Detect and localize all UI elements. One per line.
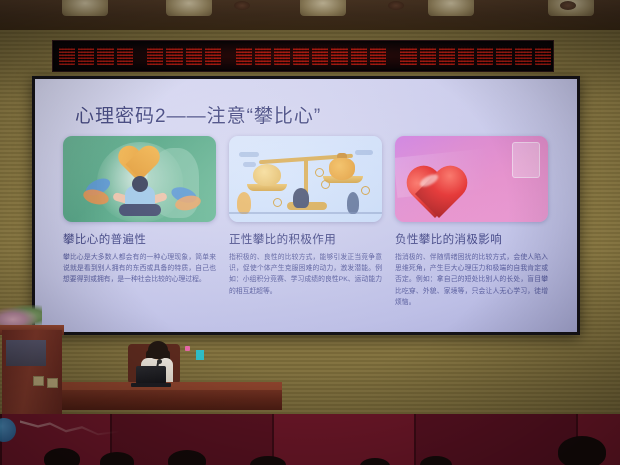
brain-icon <box>253 164 281 186</box>
desk-edge <box>62 382 282 390</box>
desk-item-pink <box>185 346 190 351</box>
column-body: 指消极的、伴随情绪困扰的比较方式，会使人陷入思维死角，产生巨大心理压力和极端的自… <box>395 252 548 308</box>
meditation-heart-illustration <box>63 136 216 222</box>
money-bag-icon <box>329 158 355 180</box>
column-body: 指积极的、良性的比较方式，能够引发正当竞争意识，促使个体产生克服困难的动力，激发… <box>229 252 382 297</box>
audience-head <box>558 436 606 465</box>
slide-title: 心理密码2——注意“攀比心” <box>75 101 321 128</box>
microphone-icon <box>157 359 162 364</box>
lecture-hall-photo: 心理密码2——注意“攀比心” 攀比心的普遍性 攀比心是大多数人都会有的一种心理现… <box>0 0 620 465</box>
audience-head <box>100 452 134 465</box>
led-banner-text <box>59 46 551 66</box>
slide-column: 攀比心的普遍性 攀比心是大多数人都会有的一种心理现象，简单来说就是看到别人拥有的… <box>63 136 216 308</box>
laptop-base <box>131 383 171 387</box>
column-heading: 攀比心的普遍性 <box>63 231 216 247</box>
card-shape <box>512 142 540 178</box>
ceiling-light <box>166 0 212 16</box>
balance-scale-illustration <box>229 136 382 222</box>
ceiling-spotlight <box>388 1 404 10</box>
wall-socket <box>47 378 58 388</box>
led-banner <box>52 40 554 72</box>
column-heading: 正性攀比的积极作用 <box>229 231 382 247</box>
seat-block <box>272 414 416 465</box>
slide: 心理密码2——注意“攀比心” 攀比心的普遍性 攀比心是大多数人都会有的一种心理现… <box>35 79 577 332</box>
audience-head <box>168 450 206 465</box>
audience-head <box>44 448 80 465</box>
slide-columns: 攀比心的普遍性 攀比心是大多数人都会有的一种心理现象，简单来说就是看到别人拥有的… <box>63 136 549 308</box>
ceiling-spotlight <box>560 1 576 10</box>
ceiling-light <box>428 0 474 16</box>
ceiling-light <box>62 0 108 16</box>
laptop <box>136 366 166 384</box>
column-heading: 负性攀比的消极影响 <box>395 231 548 247</box>
presenter-hair <box>148 341 168 359</box>
podium-control-panel <box>6 340 46 366</box>
column-body: 攀比心是大多数人都会有的一种心理现象，简单来说就是看到别人拥有的东西或具备的特质… <box>63 252 216 286</box>
slide-column: 负性攀比的消极影响 指消极的、伴随情绪困扰的比较方式，会使人陷入思维死角，产生巨… <box>395 136 548 308</box>
wall-socket <box>33 376 44 386</box>
projection-screen: 心理密码2——注意“攀比心” 攀比心的普遍性 攀比心是大多数人都会有的一种心理现… <box>32 76 580 335</box>
desk-item-teal <box>196 350 204 360</box>
red-heart-illustration <box>395 136 548 222</box>
ceiling-spotlight <box>234 1 250 10</box>
slide-column: 正性攀比的积极作用 指积极的、良性的比较方式，能够引发正当竞争意识，促使个体产生… <box>229 136 382 308</box>
ceiling-light <box>300 0 346 16</box>
